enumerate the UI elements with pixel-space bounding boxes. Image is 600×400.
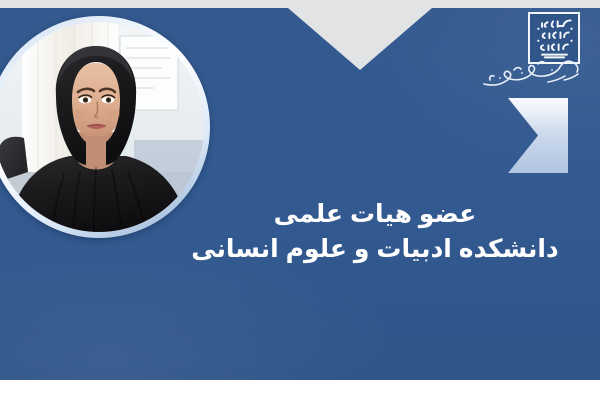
public-relations-calligraphy-icon (478, 56, 586, 90)
faculty-subtitle: عضو هیات علمی دانشکده ادبیات و علوم انسا… (175, 198, 575, 266)
faculty-position-label: عضو هیات علمی (175, 198, 575, 231)
faculty-portrait-photo (0, 22, 204, 232)
bottom-white-band (0, 380, 600, 400)
faculty-department-label: دانشکده ادبیات و علوم انسانی (175, 233, 575, 266)
faculty-profile-card: دکتر مرضیه ابراهیمی عضو هیات علمی دانشکد… (0, 0, 600, 400)
university-logo (476, 6, 586, 92)
